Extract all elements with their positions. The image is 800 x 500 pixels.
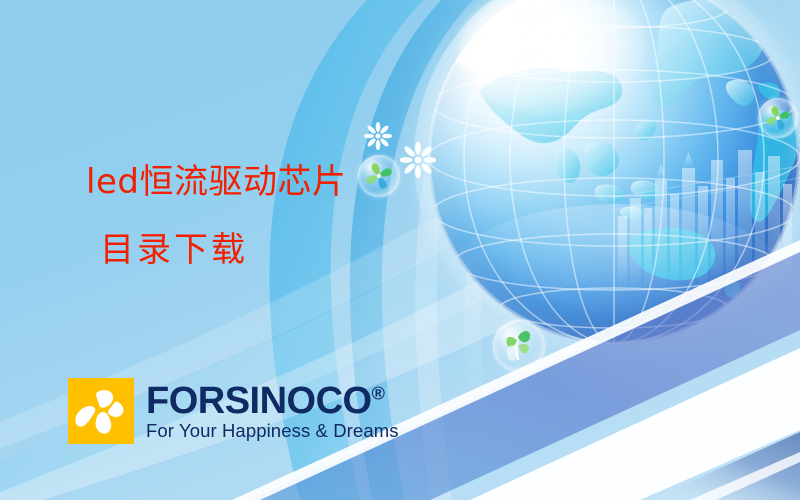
logo-text-block: FORSINOCO® For Your Happiness & Dreams — [146, 382, 399, 441]
logo-company-name: FORSINOCO® — [146, 382, 399, 420]
headline-text: led恒流驱动芯片 目录下载 — [86, 165, 346, 267]
company-logo: FORSINOCO® For Your Happiness & Dreams — [68, 378, 399, 444]
bubble-pinwheel-mid — [358, 155, 400, 197]
registered-trademark-icon: ® — [372, 383, 385, 403]
flower-sprite-left — [364, 122, 392, 150]
pinwheel-petals-icon — [68, 378, 134, 444]
bubble-pinwheel-right — [758, 98, 798, 138]
pinwheel-icon — [358, 155, 400, 197]
logo-tagline: For Your Happiness & Dreams — [146, 422, 399, 441]
flower-sprite-right — [400, 142, 436, 178]
headline-line-2: 目录下载 — [100, 233, 346, 267]
pinwheel-icon-right — [758, 98, 798, 138]
forsinoco-pinwheel-mark — [68, 378, 134, 444]
bubble-sprout-lower — [493, 320, 545, 372]
sprout-icon — [493, 320, 545, 372]
headline-line-1: led恒流驱动芯片 — [86, 162, 346, 202]
promo-banner: led恒流驱动芯片 目录下载 FORSINOCO® For Your Happ — [0, 0, 800, 500]
logo-company-name-text: FORSINOCO — [146, 380, 372, 422]
